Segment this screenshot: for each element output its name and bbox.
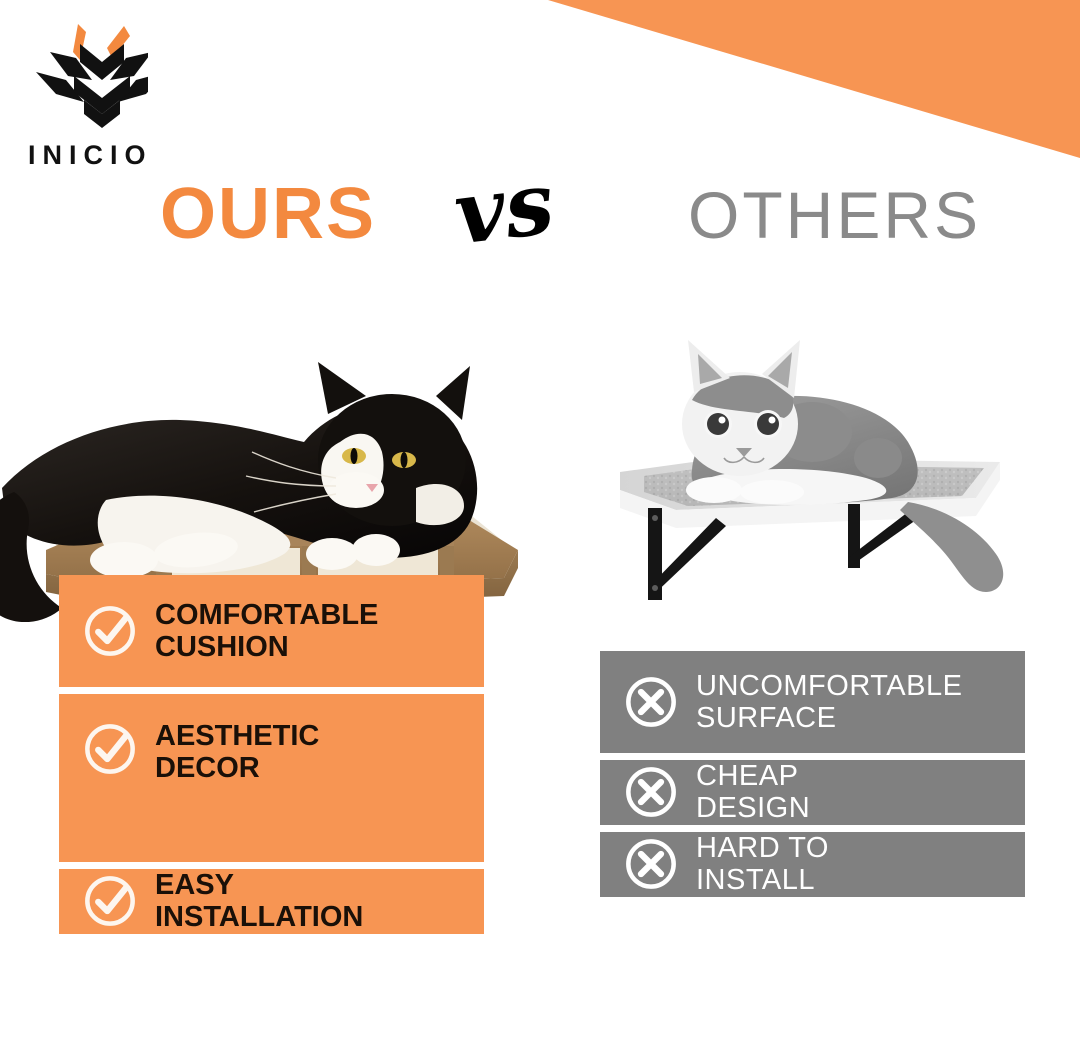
feature-row-hard-to-install: HARD TO INSTALL bbox=[600, 832, 1025, 897]
feature-label: COMFORTABLE CUSHION bbox=[155, 599, 378, 664]
bee-logo-icon bbox=[28, 18, 148, 136]
check-circle-icon bbox=[81, 720, 139, 778]
cross-circle-icon bbox=[622, 763, 680, 821]
comparison-infographic: INICIO OURS vs OTHERS bbox=[0, 0, 1080, 1040]
cross-circle-icon bbox=[622, 835, 680, 893]
check-circle-icon bbox=[81, 872, 139, 930]
row-divider bbox=[600, 825, 1025, 832]
headline-vs: vs bbox=[450, 160, 558, 257]
row-divider bbox=[59, 687, 484, 694]
product-photo-ours bbox=[0, 292, 564, 622]
headline-others: OTHERS bbox=[688, 182, 981, 248]
feature-row-cheap-design: CHEAP DESIGN bbox=[600, 760, 1025, 825]
feature-label: UNCOMFORTABLE SURFACE bbox=[696, 670, 962, 735]
cross-circle-icon bbox=[622, 673, 680, 731]
feature-label: HARD TO INSTALL bbox=[696, 832, 829, 897]
feature-row-uncomfortable-surface: UNCOMFORTABLE SURFACE bbox=[600, 651, 1025, 753]
headline: OURS vs OTHERS bbox=[0, 178, 1080, 278]
check-circle-icon bbox=[81, 602, 139, 660]
feature-label: EASY INSTALLATION bbox=[155, 869, 363, 934]
feature-label: CHEAP DESIGN bbox=[696, 760, 810, 825]
column-spacer bbox=[600, 518, 1025, 651]
feature-label: AESTHETIC DECOR bbox=[155, 720, 319, 785]
row-divider bbox=[59, 862, 484, 869]
brand-logo: INICIO bbox=[28, 18, 198, 169]
headline-ours: OURS bbox=[160, 178, 376, 250]
feature-row-easy-installation: EASY INSTALLATION bbox=[59, 869, 484, 934]
brand-name: INICIO bbox=[28, 142, 198, 169]
row-divider bbox=[600, 753, 1025, 760]
comparison-column-ours: COMFORTABLE CUSHION AESTHETIC DECOR EASY… bbox=[59, 575, 484, 1040]
feature-row-comfortable-cushion: COMFORTABLE CUSHION bbox=[59, 575, 484, 687]
feature-row-aesthetic-decor: AESTHETIC DECOR bbox=[59, 694, 484, 862]
comparison-column-others: UNCOMFORTABLE SURFACE CHEAP DESIGN HARD … bbox=[600, 518, 1025, 1040]
